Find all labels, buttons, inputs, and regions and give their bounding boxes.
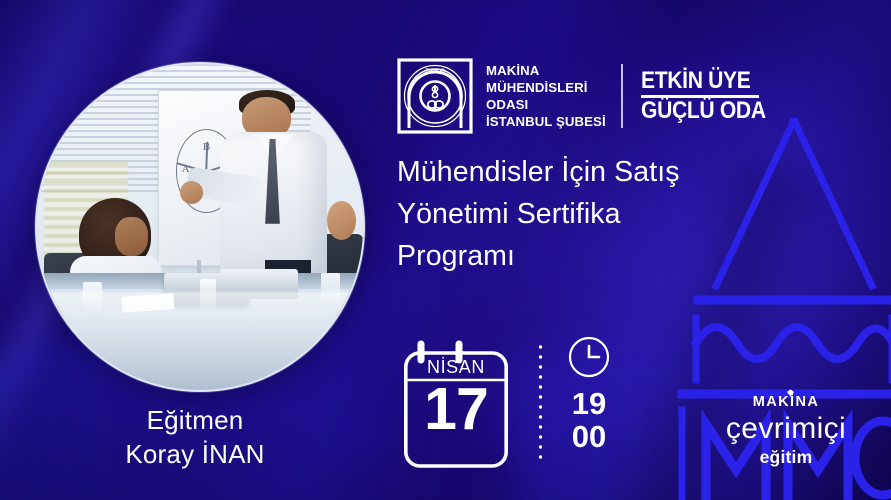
calendar-month: NİSAN xyxy=(404,357,508,378)
online-training-brand: MAKİNA çevrimiçi eğitim xyxy=(700,393,872,468)
calendar-day: 17 xyxy=(404,380,508,439)
brand-line-3: eğitim xyxy=(700,447,872,468)
instructor-role: Eğitmen xyxy=(0,404,390,438)
brand-line-1: MAKİNA xyxy=(753,394,819,410)
instructor-block: Eğitmen Koray İNAN xyxy=(0,404,390,472)
organization-name: MAKİNA MÜHENDİSLERİ ODASI İSTANBUL ŞUBES… xyxy=(486,62,606,131)
header-divider xyxy=(621,64,623,128)
slogan-line-1: ETKİN ÜYE xyxy=(641,69,750,93)
org-line-4: İSTANBUL ŞUBESİ xyxy=(486,113,606,130)
page-title: Mühendisler İçin Satış Yönetimi Sertifik… xyxy=(397,152,742,278)
instructor-name: Koray İNAN xyxy=(0,438,390,472)
org-line-1: MAKİNA xyxy=(486,62,606,79)
event-time: 19 00 xyxy=(568,336,610,476)
svg-text:TMMOB: TMMOB xyxy=(425,69,445,75)
clock-icon xyxy=(568,336,610,378)
slogan-line-2: GÜÇLÜ ODA xyxy=(641,99,766,123)
slogan: ETKİN ÜYE GÜÇLÜ ODA xyxy=(641,69,783,123)
dotted-separator xyxy=(538,342,542,460)
org-line-2: MÜHENDİSLERİ xyxy=(486,79,606,96)
tmmob-logo-icon: TMMOB xyxy=(397,58,473,134)
header-logo-group: TMMOB MAKİNA MÜHENDİSLERİ ODASI İSTANBUL… xyxy=(397,58,782,134)
event-hour: 19 xyxy=(572,387,606,420)
event-banner: A B C D E xyxy=(0,0,891,500)
event-minute: 00 xyxy=(572,420,606,453)
brand-line-2: çevrimiçi xyxy=(700,412,872,446)
speaker-photo: A B C D E xyxy=(35,62,365,392)
org-line-3: ODASI xyxy=(486,96,606,113)
calendar-icon: NİSAN 17 xyxy=(404,336,508,468)
event-datetime: NİSAN 17 19 00 xyxy=(404,336,610,476)
diamond-icon xyxy=(786,385,795,393)
